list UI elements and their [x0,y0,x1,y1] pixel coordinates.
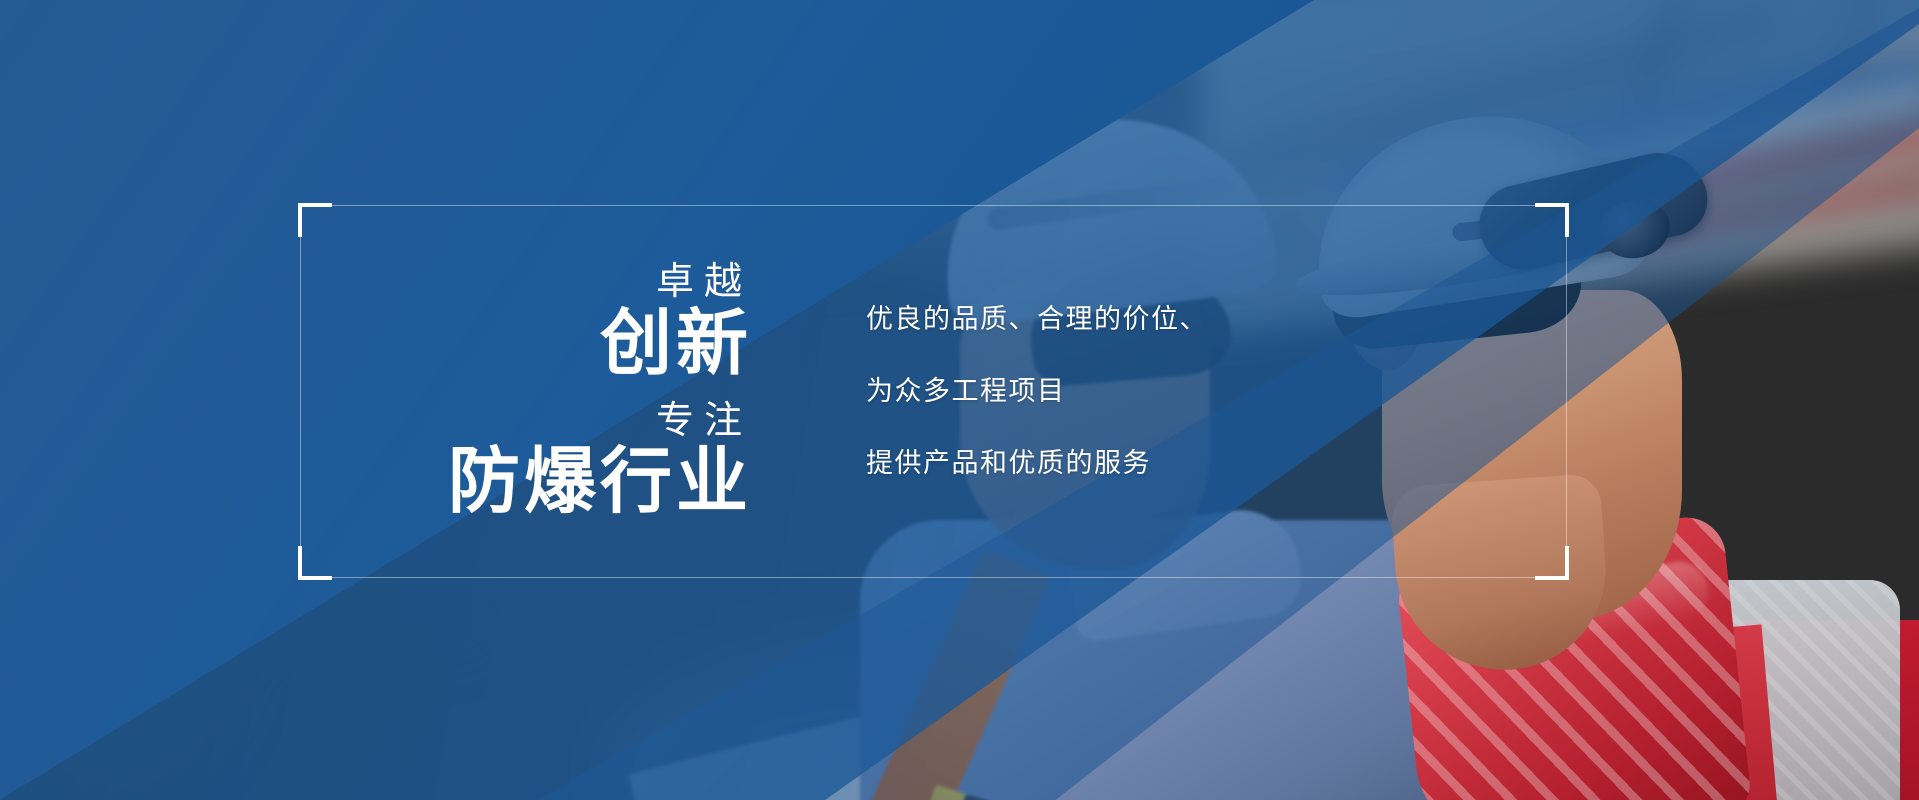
headline-industry: 防爆行业 [300,443,752,522]
headline-block: 卓越 创新 专注 防爆行业 [300,260,770,522]
headline-innovation: 创新 [300,305,752,384]
headline-eyebrow-focus: 专注 [300,399,752,444]
description-line-1: 优良的品质、合理的价位、 [866,306,1208,333]
description-block: 优良的品质、合理的价位、 为众多工程项目 提供产品和优质的服务 [866,306,1208,477]
description-line-2: 为众多工程项目 [866,378,1208,405]
headline-eyebrow-excellence: 卓越 [300,260,752,305]
banner-content: 卓越 创新 专注 防爆行业 优良的品质、合理的价位、 为众多工程项目 提供产品和… [300,205,1567,578]
description-line-3: 提供产品和优质的服务 [866,450,1208,477]
hero-banner: 卓越 创新 专注 防爆行业 优良的品质、合理的价位、 为众多工程项目 提供产品和… [0,0,1919,800]
